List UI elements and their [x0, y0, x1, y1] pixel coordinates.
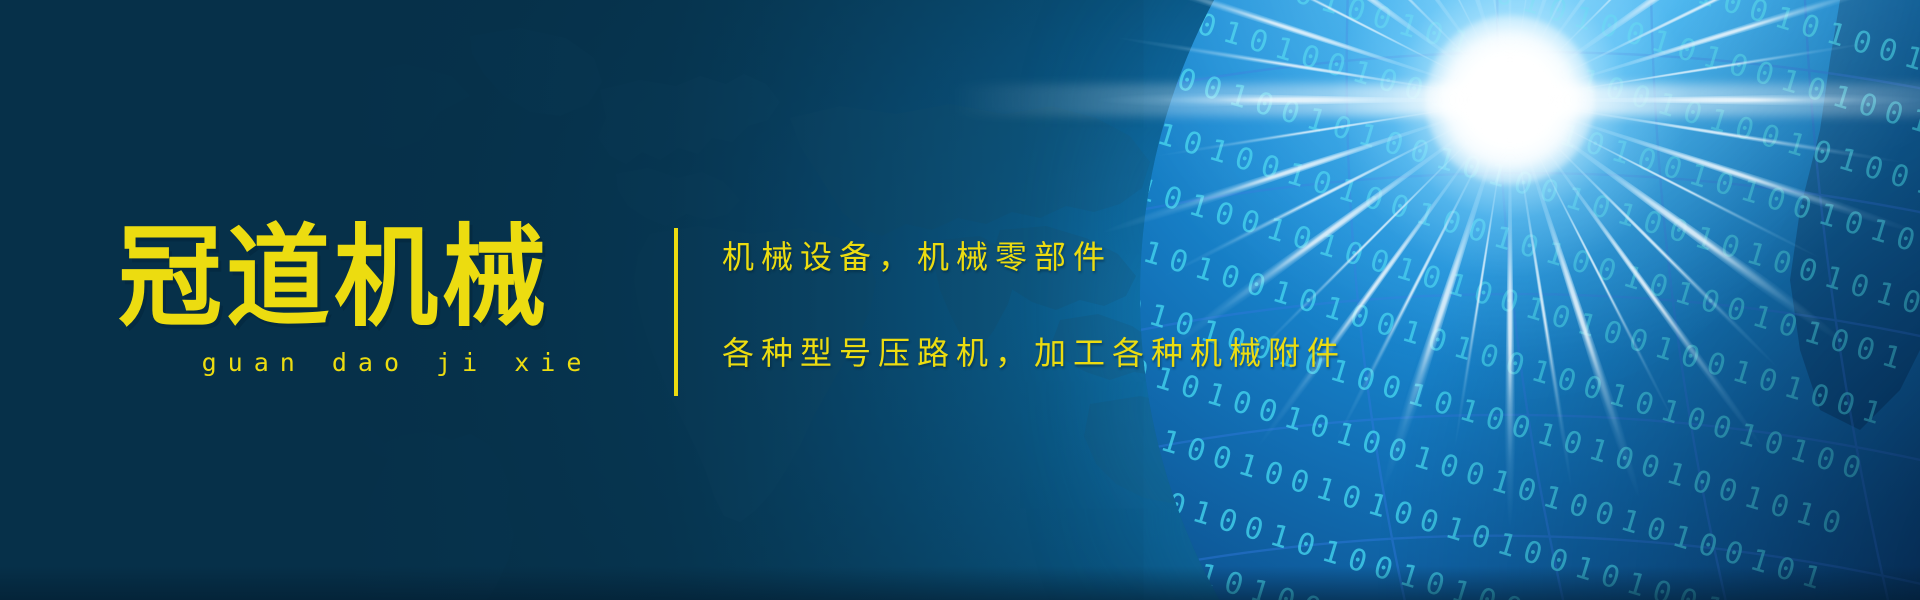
promotional-banner: 10010100101001010010010100101001010 0100…: [0, 0, 1920, 600]
tagline-group: 机械设备，机械零部件 各种型号压路机，加工各种机械附件: [722, 232, 1346, 374]
logo-pinyin: guan dao ji xie: [118, 348, 658, 377]
logo-block: 冠道机械 guan dao ji xie: [118, 222, 658, 377]
tagline-line-1: 机械设备，机械零部件: [722, 232, 1346, 278]
tagline-line-2: 各种型号压路机，加工各种机械附件: [722, 328, 1346, 374]
logo-title: 冠道机械: [118, 222, 658, 332]
banner-content: 冠道机械 guan dao ji xie 机械设备，机械零部件 各种型号压路机，…: [0, 0, 1920, 600]
vertical-divider: [674, 228, 678, 396]
